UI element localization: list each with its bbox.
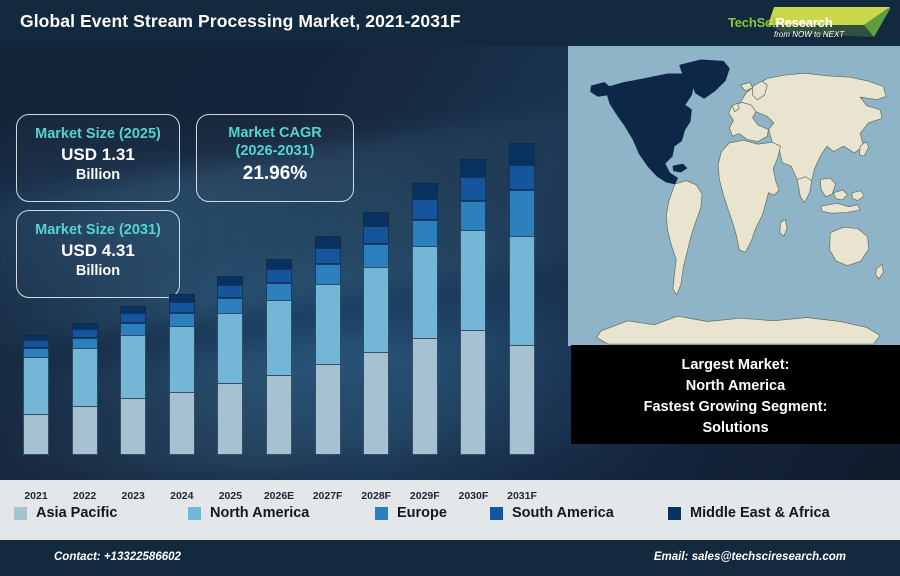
world-map: [568, 46, 900, 346]
legend-item[interactable]: South America: [490, 505, 614, 521]
bar-segment[interactable]: [315, 248, 341, 264]
bar-segment[interactable]: [169, 313, 195, 327]
bar-segment[interactable]: [412, 338, 438, 455]
info-largest-market-label: Largest Market:: [571, 355, 900, 376]
legend-item[interactable]: Europe: [375, 505, 447, 521]
infographic-root: Global Event Stream Processing Market, 2…: [0, 0, 900, 576]
page-title: Global Event Stream Processing Market, 2…: [20, 11, 461, 32]
chart-legend: Asia PacificNorth AmericaEuropeSouth Ame…: [0, 496, 900, 530]
legend-label: Middle East & Africa: [690, 505, 830, 521]
bar-segment[interactable]: [460, 230, 486, 331]
bar-segment[interactable]: [120, 323, 146, 336]
bar-column[interactable]: [169, 295, 195, 455]
logo-tagline: from NOW to NEXT: [774, 30, 844, 39]
bar-segment[interactable]: [169, 392, 195, 455]
bar-column[interactable]: [412, 184, 438, 455]
bar-segment[interactable]: [23, 414, 49, 455]
legend-label: North America: [210, 505, 309, 521]
footer-contact[interactable]: Contact: +13322586602: [54, 551, 181, 563]
bar-segment[interactable]: [412, 246, 438, 339]
bar-segment[interactable]: [266, 375, 292, 455]
bar-segment[interactable]: [217, 313, 243, 384]
bar-segment[interactable]: [363, 226, 389, 244]
legend-label: Europe: [397, 505, 447, 521]
logo-tech-text: TechSci: [728, 15, 776, 30]
bar-column[interactable]: [363, 213, 389, 455]
bar-segment[interactable]: [217, 285, 243, 298]
legend-item[interactable]: Asia Pacific: [14, 505, 117, 521]
bar-segment[interactable]: [266, 269, 292, 283]
bar-segment[interactable]: [460, 159, 486, 178]
title-bar: Global Event Stream Processing Market, 2…: [0, 0, 900, 46]
footer-email[interactable]: Email: sales@techsciresearch.com: [654, 551, 846, 563]
bar-segment[interactable]: [23, 357, 49, 415]
bar-segment[interactable]: [412, 220, 438, 247]
info-fastest-segment-label: Fastest Growing Segment:: [571, 397, 900, 418]
bar-segment[interactable]: [363, 352, 389, 455]
legend-swatch-icon: [490, 507, 503, 520]
logo-research-text: Research: [776, 15, 833, 30]
stacked-bar-chart: [0, 46, 570, 456]
legend-swatch-icon: [14, 507, 27, 520]
bar-column[interactable]: [72, 324, 98, 455]
bar-segment[interactable]: [412, 199, 438, 220]
legend-item[interactable]: North America: [188, 505, 309, 521]
bar-segment[interactable]: [315, 284, 341, 365]
bar-column[interactable]: [217, 277, 243, 455]
techsci-logo[interactable]: TechSciResearch from NOW to NEXT: [714, 2, 894, 44]
bar-segment[interactable]: [266, 283, 292, 301]
bar-segment[interactable]: [509, 190, 535, 237]
bar-column[interactable]: [460, 160, 486, 455]
legend-swatch-icon: [668, 507, 681, 520]
bar-segment[interactable]: [72, 348, 98, 407]
bar-segment[interactable]: [509, 165, 535, 190]
bar-segment[interactable]: [460, 177, 486, 201]
bar-segment[interactable]: [266, 300, 292, 376]
legend-label: Asia Pacific: [36, 505, 117, 521]
bar-segment[interactable]: [315, 364, 341, 455]
bar-segment[interactable]: [120, 335, 146, 399]
bar-segment[interactable]: [315, 264, 341, 285]
info-box: Largest Market: North America Fastest Gr…: [571, 345, 900, 444]
world-map-svg: [568, 46, 900, 346]
bar-column[interactable]: [120, 307, 146, 455]
footer-bar: Contact: +13322586602 Email: sales@techs…: [0, 540, 900, 576]
bar-segment[interactable]: [412, 183, 438, 200]
bar-segment[interactable]: [363, 267, 389, 353]
bar-column[interactable]: [509, 144, 535, 455]
legend-item[interactable]: Middle East & Africa: [668, 505, 830, 521]
bar-segment[interactable]: [169, 326, 195, 393]
bar-segment[interactable]: [217, 383, 243, 455]
bar-segment[interactable]: [72, 406, 98, 455]
bar-segment[interactable]: [363, 212, 389, 227]
legend-swatch-icon: [375, 507, 388, 520]
bar-segment[interactable]: [509, 345, 535, 455]
logo-wordmark: TechSciResearch: [728, 15, 832, 30]
info-largest-market-value: North America: [571, 376, 900, 397]
info-fastest-segment-value: Solutions: [571, 418, 900, 439]
bar-segment[interactable]: [363, 244, 389, 268]
bar-segment[interactable]: [120, 398, 146, 455]
bar-segment[interactable]: [509, 236, 535, 346]
bar-column[interactable]: [23, 336, 49, 455]
bar-segment[interactable]: [460, 330, 486, 455]
bar-segment[interactable]: [460, 201, 486, 231]
bar-segment[interactable]: [509, 143, 535, 166]
bar-column[interactable]: [315, 237, 341, 455]
bar-column[interactable]: [266, 260, 292, 455]
legend-swatch-icon: [188, 507, 201, 520]
bar-segment[interactable]: [315, 236, 341, 249]
legend-label: South America: [512, 505, 614, 521]
bar-segment[interactable]: [217, 298, 243, 314]
